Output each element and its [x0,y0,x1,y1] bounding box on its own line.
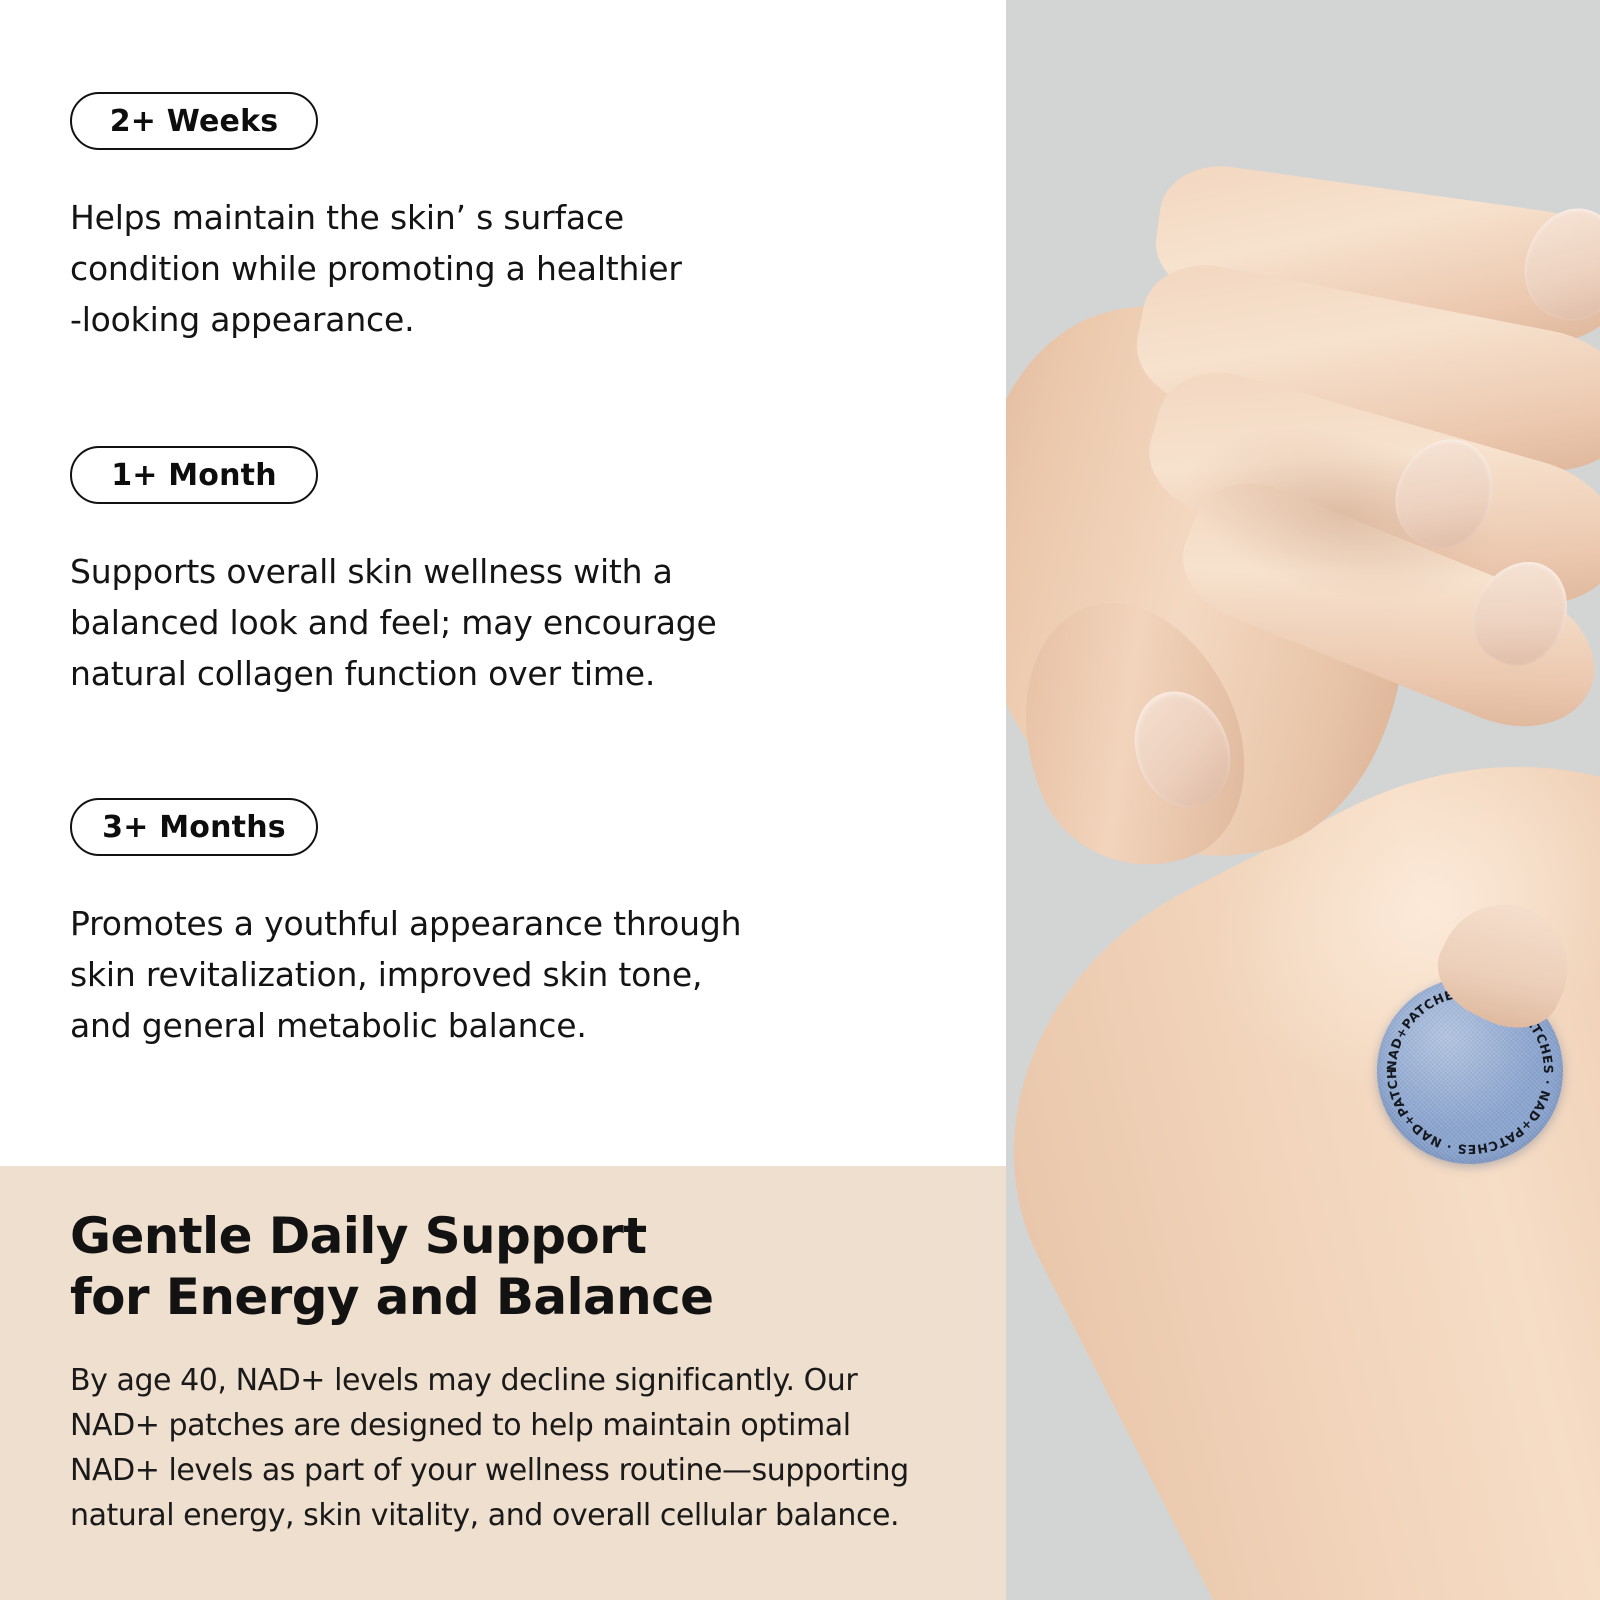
badge-2-weeks: 2+ Weeks [70,92,318,150]
badge-1-month: 1+ Month [70,446,318,504]
promo-body-text: By age 40, NAD+ levels may decline signi… [70,1358,976,1538]
hand-applying-patch-photo: NAD+PATCHES · NAD+PATCHES · NAD+PATCHES … [1006,0,1600,1600]
benefit-description-1-month: Supports overall skin wellness with a ba… [70,546,1000,699]
benefit-block-3-months: 3+ Months Promotes a youthful appearance… [70,798,1000,1051]
badge-3-months: 3+ Months [70,798,318,856]
left-content-column: 2+ Weeks Helps maintain the skin’ s surf… [0,0,1006,1600]
product-benefits-page: 2+ Weeks Helps maintain the skin’ s surf… [0,0,1600,1600]
benefit-description-2-weeks: Helps maintain the skin’ s surface condi… [70,192,1000,345]
benefit-timeline-section: 2+ Weeks Helps maintain the skin’ s surf… [0,0,1006,1166]
product-photo-panel: NAD+PATCHES · NAD+PATCHES · NAD+PATCHES … [1006,0,1600,1600]
promo-section: Gentle Daily Support for Energy and Bala… [0,1166,1006,1600]
benefit-description-3-months: Promotes a youthful appearance through s… [70,898,1000,1051]
promo-heading: Gentle Daily Support for Energy and Bala… [70,1206,976,1328]
benefit-block-2-weeks: 2+ Weeks Helps maintain the skin’ s surf… [70,92,1000,345]
benefit-block-1-month: 1+ Month Supports overall skin wellness … [70,446,1000,699]
